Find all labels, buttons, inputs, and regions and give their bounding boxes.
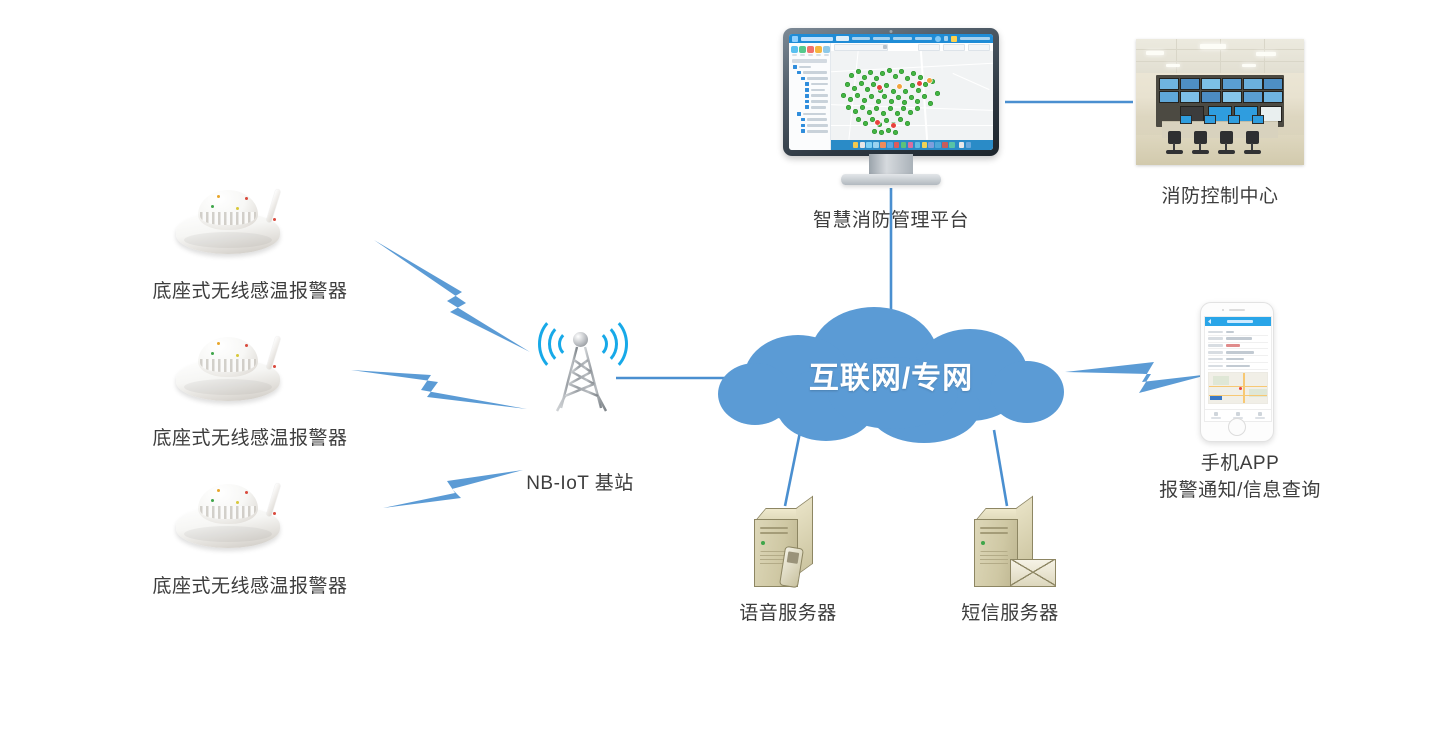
filter-dropdown-3[interactable] <box>968 44 990 51</box>
envelope-icon <box>1010 559 1056 587</box>
link-cloud-to-voice-server <box>785 432 800 506</box>
list-item[interactable] <box>1208 356 1268 363</box>
alarm-marker[interactable] <box>891 123 896 128</box>
alarm-marker[interactable] <box>875 120 880 125</box>
list-item[interactable] <box>1208 363 1268 370</box>
home-button[interactable] <box>1228 418 1246 436</box>
basestation-node[interactable] <box>528 316 632 420</box>
app-logo-icon <box>792 36 798 42</box>
sensor-label-2: 底座式无线感温报警器 <box>25 425 475 452</box>
desk-monitor <box>1204 115 1216 124</box>
voice-server-icon <box>748 505 826 593</box>
kpi-tile[interactable] <box>791 46 798 56</box>
office-chair <box>1218 131 1235 157</box>
location-map[interactable] <box>1208 372 1268 404</box>
app-menu-item-2[interactable] <box>873 37 890 40</box>
list-item[interactable] <box>1208 343 1268 350</box>
network-cloud[interactable]: 互联网/专网 <box>718 307 1064 443</box>
dock-icon[interactable] <box>915 142 921 148</box>
sms-server-icon <box>968 505 1046 593</box>
dock-icon[interactable] <box>949 142 955 148</box>
tree-node[interactable] <box>793 82 828 86</box>
basestation-label: NB-IoT 基站 <box>453 470 707 497</box>
dock-icon[interactable] <box>935 142 941 148</box>
list-item[interactable] <box>1208 349 1268 356</box>
search-icon[interactable] <box>883 45 887 49</box>
back-icon[interactable] <box>1208 319 1211 324</box>
app-header <box>1205 317 1271 326</box>
monitor-stand-base <box>841 174 941 185</box>
dock-icon[interactable] <box>901 142 907 148</box>
tree-node[interactable] <box>793 100 828 104</box>
tab-item[interactable] <box>1205 410 1227 421</box>
cloud-label: 互联网/专网 <box>718 307 1064 443</box>
kpi-tile[interactable] <box>815 46 822 56</box>
dock-icon[interactable] <box>959 142 965 148</box>
heat-detector-icon <box>174 480 294 552</box>
voice-server-node[interactable] <box>748 505 826 593</box>
sms-server-label: 短信服务器 <box>890 600 1130 627</box>
tree-node[interactable] <box>793 129 828 133</box>
dock-icon[interactable] <box>887 142 893 148</box>
kpi-tile[interactable] <box>799 46 806 56</box>
platform-screen <box>789 34 993 150</box>
mobile-app-label-line1: 手机APP <box>1085 450 1395 477</box>
tree-node[interactable] <box>793 94 828 98</box>
wireless-link-bolt-phone <box>1065 362 1211 393</box>
monitor-stand-neck <box>869 154 913 176</box>
control-room-photo <box>1136 39 1304 165</box>
control-center-label: 消防控制中心 <box>1045 183 1395 210</box>
app-menu-item-3[interactable] <box>893 37 912 40</box>
tab-item[interactable] <box>1249 410 1271 421</box>
dock-icon[interactable] <box>894 142 900 148</box>
sensor-label-1: 底座式无线感温报警器 <box>25 278 475 305</box>
list-item[interactable] <box>1208 329 1268 336</box>
desk-monitor <box>1252 115 1264 124</box>
app-dock <box>831 140 993 150</box>
heat-detector-icon <box>174 333 294 405</box>
grid-icon[interactable] <box>944 36 948 41</box>
screen-header-bar <box>789 34 993 43</box>
tree-node[interactable] <box>793 118 828 122</box>
app-menu-item-4[interactable] <box>915 37 932 40</box>
alarm-marker[interactable] <box>917 81 922 86</box>
dock-icon[interactable] <box>880 142 886 148</box>
office-chair <box>1166 131 1183 157</box>
screen-sidebar <box>789 43 831 150</box>
control-center-node[interactable] <box>1136 39 1304 165</box>
tree-node[interactable] <box>793 71 828 75</box>
user-account-text[interactable] <box>960 37 990 40</box>
dock-icon[interactable] <box>928 142 934 148</box>
app-tab-active[interactable] <box>836 36 849 41</box>
sensor-label-3: 底座式无线感温报警器 <box>25 573 475 600</box>
wireless-link-bolt-2 <box>351 370 527 409</box>
sms-server-node[interactable] <box>968 505 1046 593</box>
device-map[interactable] <box>831 51 993 140</box>
desk-monitor <box>1180 115 1192 124</box>
app-menu-item-1[interactable] <box>852 37 871 40</box>
dock-icon[interactable] <box>966 142 972 148</box>
kpi-tile[interactable] <box>823 46 830 56</box>
tree-node[interactable] <box>793 124 828 128</box>
heat-detector-icon <box>174 186 294 258</box>
dock-icon[interactable] <box>942 142 948 148</box>
dock-icon[interactable] <box>866 142 872 148</box>
platform-monitor[interactable] <box>783 28 999 188</box>
kpi-tile[interactable] <box>807 46 814 56</box>
office-chair <box>1244 131 1261 157</box>
sensor-device-3[interactable] <box>174 480 294 552</box>
voice-server-label: 语音服务器 <box>668 600 908 627</box>
desktop-monitor-icon <box>783 28 999 188</box>
desk-monitor <box>1228 115 1240 124</box>
tree-node[interactable] <box>793 65 828 69</box>
cell-tower-icon <box>528 316 632 420</box>
warning-marker[interactable] <box>897 84 902 89</box>
help-icon[interactable] <box>935 36 941 42</box>
sensor-device-2[interactable] <box>174 333 294 405</box>
alarm-detail-list <box>1205 326 1271 370</box>
device-tree <box>791 65 828 133</box>
app-title-text <box>801 37 833 41</box>
warning-marker[interactable] <box>927 78 932 83</box>
list-item[interactable] <box>1208 336 1268 343</box>
platform-label: 智慧消防管理平台 <box>691 207 1091 234</box>
dock-icon[interactable] <box>873 142 879 148</box>
sensor-device-1[interactable] <box>174 186 294 258</box>
dock-icon[interactable] <box>908 142 914 148</box>
diagram-canvas: 底座式无线感温报警器 底座式无线感温报警器 底座式无线感温报警器 <box>0 0 1430 751</box>
tree-node[interactable] <box>793 88 828 92</box>
alert-icon[interactable] <box>951 36 957 42</box>
mobile-app-label-line2: 报警通知/信息查询 <box>1085 477 1395 504</box>
dock-icon[interactable] <box>860 142 866 148</box>
kpi-tiles <box>791 46 828 56</box>
alarm-marker[interactable] <box>877 85 882 90</box>
sidebar-section-header <box>792 59 827 63</box>
screen-map-panel <box>831 43 993 150</box>
mobile-app-node[interactable] <box>1200 302 1274 442</box>
tree-node[interactable] <box>793 105 828 109</box>
office-chair <box>1192 131 1209 157</box>
dock-icon[interactable] <box>922 142 928 148</box>
tree-node[interactable] <box>793 77 828 81</box>
tree-node[interactable] <box>793 112 828 116</box>
filter-dropdown-1[interactable] <box>918 44 940 51</box>
app-screen-title <box>1227 320 1253 323</box>
map-search-input[interactable] <box>834 44 888 51</box>
dock-icon[interactable] <box>853 142 859 148</box>
filter-dropdown-2[interactable] <box>943 44 965 51</box>
smartphone-icon <box>1200 302 1274 442</box>
